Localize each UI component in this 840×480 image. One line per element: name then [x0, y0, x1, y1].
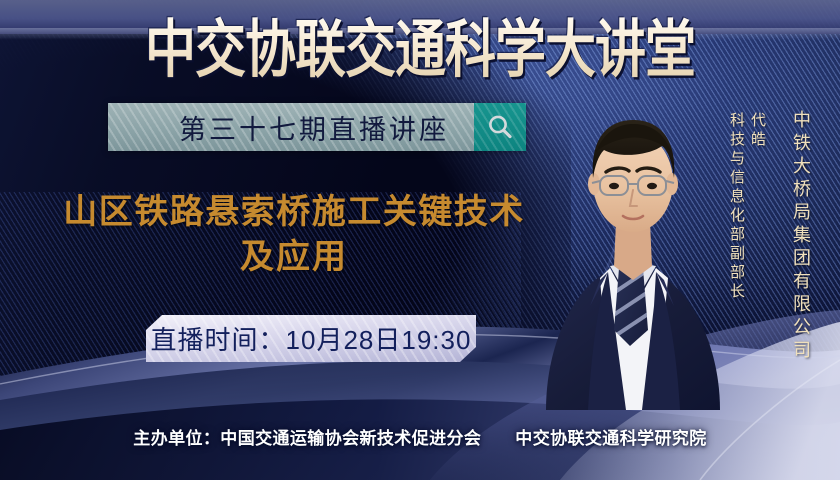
speaker-title: 科技与信息化部副部长: [728, 112, 745, 302]
webinar-poster: 中交协联交通科学大讲堂 第三十七期直播讲座 山区铁路悬索桥施工关键技术 及应用 …: [0, 0, 840, 480]
topic-title-line2: 及应用: [34, 235, 554, 280]
speaker-portrait: [530, 80, 740, 410]
broadcast-time-badge: 直播时间：10月28日19:30: [146, 315, 476, 362]
footer-organizer-primary: 主办单位：中国交通运输协会新技术促进分会: [133, 429, 481, 448]
topic-title: 山区铁路悬索桥施工关键技术 及应用: [34, 190, 554, 279]
speaker-info: 代皓 科技与信息化部副部长: [726, 112, 768, 302]
series-bar: 第三十七期直播讲座: [108, 103, 526, 151]
search-icon[interactable]: [474, 103, 526, 151]
footer-organizers: 主办单位：中国交通运输协会新技术促进分会中交协联交通科学研究院: [0, 424, 840, 449]
topic-title-line1: 山区铁路悬索桥施工关键技术: [34, 190, 554, 235]
main-title: 中交协联交通科学大讲堂: [0, 16, 840, 75]
series-label: 第三十七期直播讲座: [133, 108, 449, 147]
speaker-name: 代皓: [749, 112, 766, 150]
speaker-organization: 中铁大桥局集团有限公司: [788, 110, 814, 363]
main-title-text: 中交协联交通科学大讲堂: [145, 16, 695, 88]
broadcast-time-text: 直播时间：10月28日19:30: [151, 320, 472, 357]
footer-organizer-secondary: 中交协联交通科学研究院: [515, 429, 706, 448]
series-label-container: 第三十七期直播讲座: [108, 103, 474, 151]
